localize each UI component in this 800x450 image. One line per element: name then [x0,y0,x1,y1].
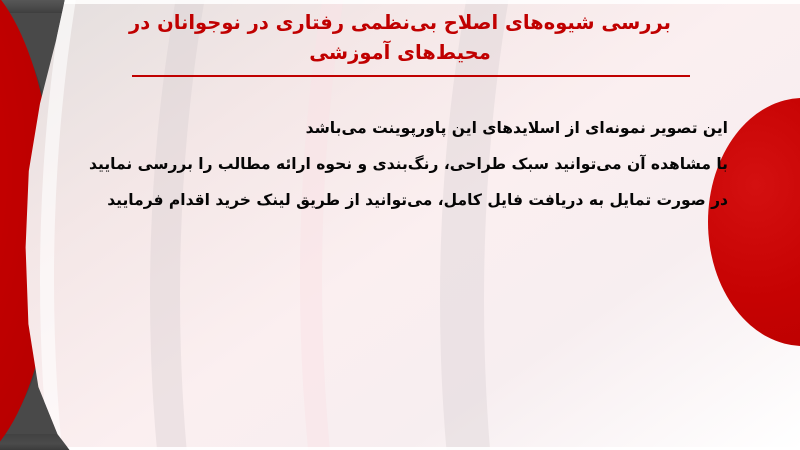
body-line-1: این تصویر نمونه‌ای از اسلایدهای این پاور… [108,118,728,139]
presentation-slide: بررسی شیوه‌های اصلاح بی‌نظمی رفتاری در ن… [0,0,800,450]
title-underline-rule [132,75,690,77]
slide-title-block: بررسی شیوه‌های اصلاح بی‌نظمی رفتاری در ن… [60,8,740,68]
slide-content-panel: بررسی شیوه‌های اصلاح بی‌نظمی رفتاری در ن… [0,0,800,450]
body-line-3: در صورت تمایل به دریافت فایل کامل، می‌تو… [108,190,728,211]
panel-top-bevel [0,0,800,4]
slide-body-block: این تصویر نمونه‌ای از اسلایدهای این پاور… [108,118,728,226]
body-line-2: با مشاهده آن می‌توانید سبک طراحی، رنگ‌بن… [108,154,728,175]
slide-title: بررسی شیوه‌های اصلاح بی‌نظمی رفتاری در ن… [60,8,740,68]
